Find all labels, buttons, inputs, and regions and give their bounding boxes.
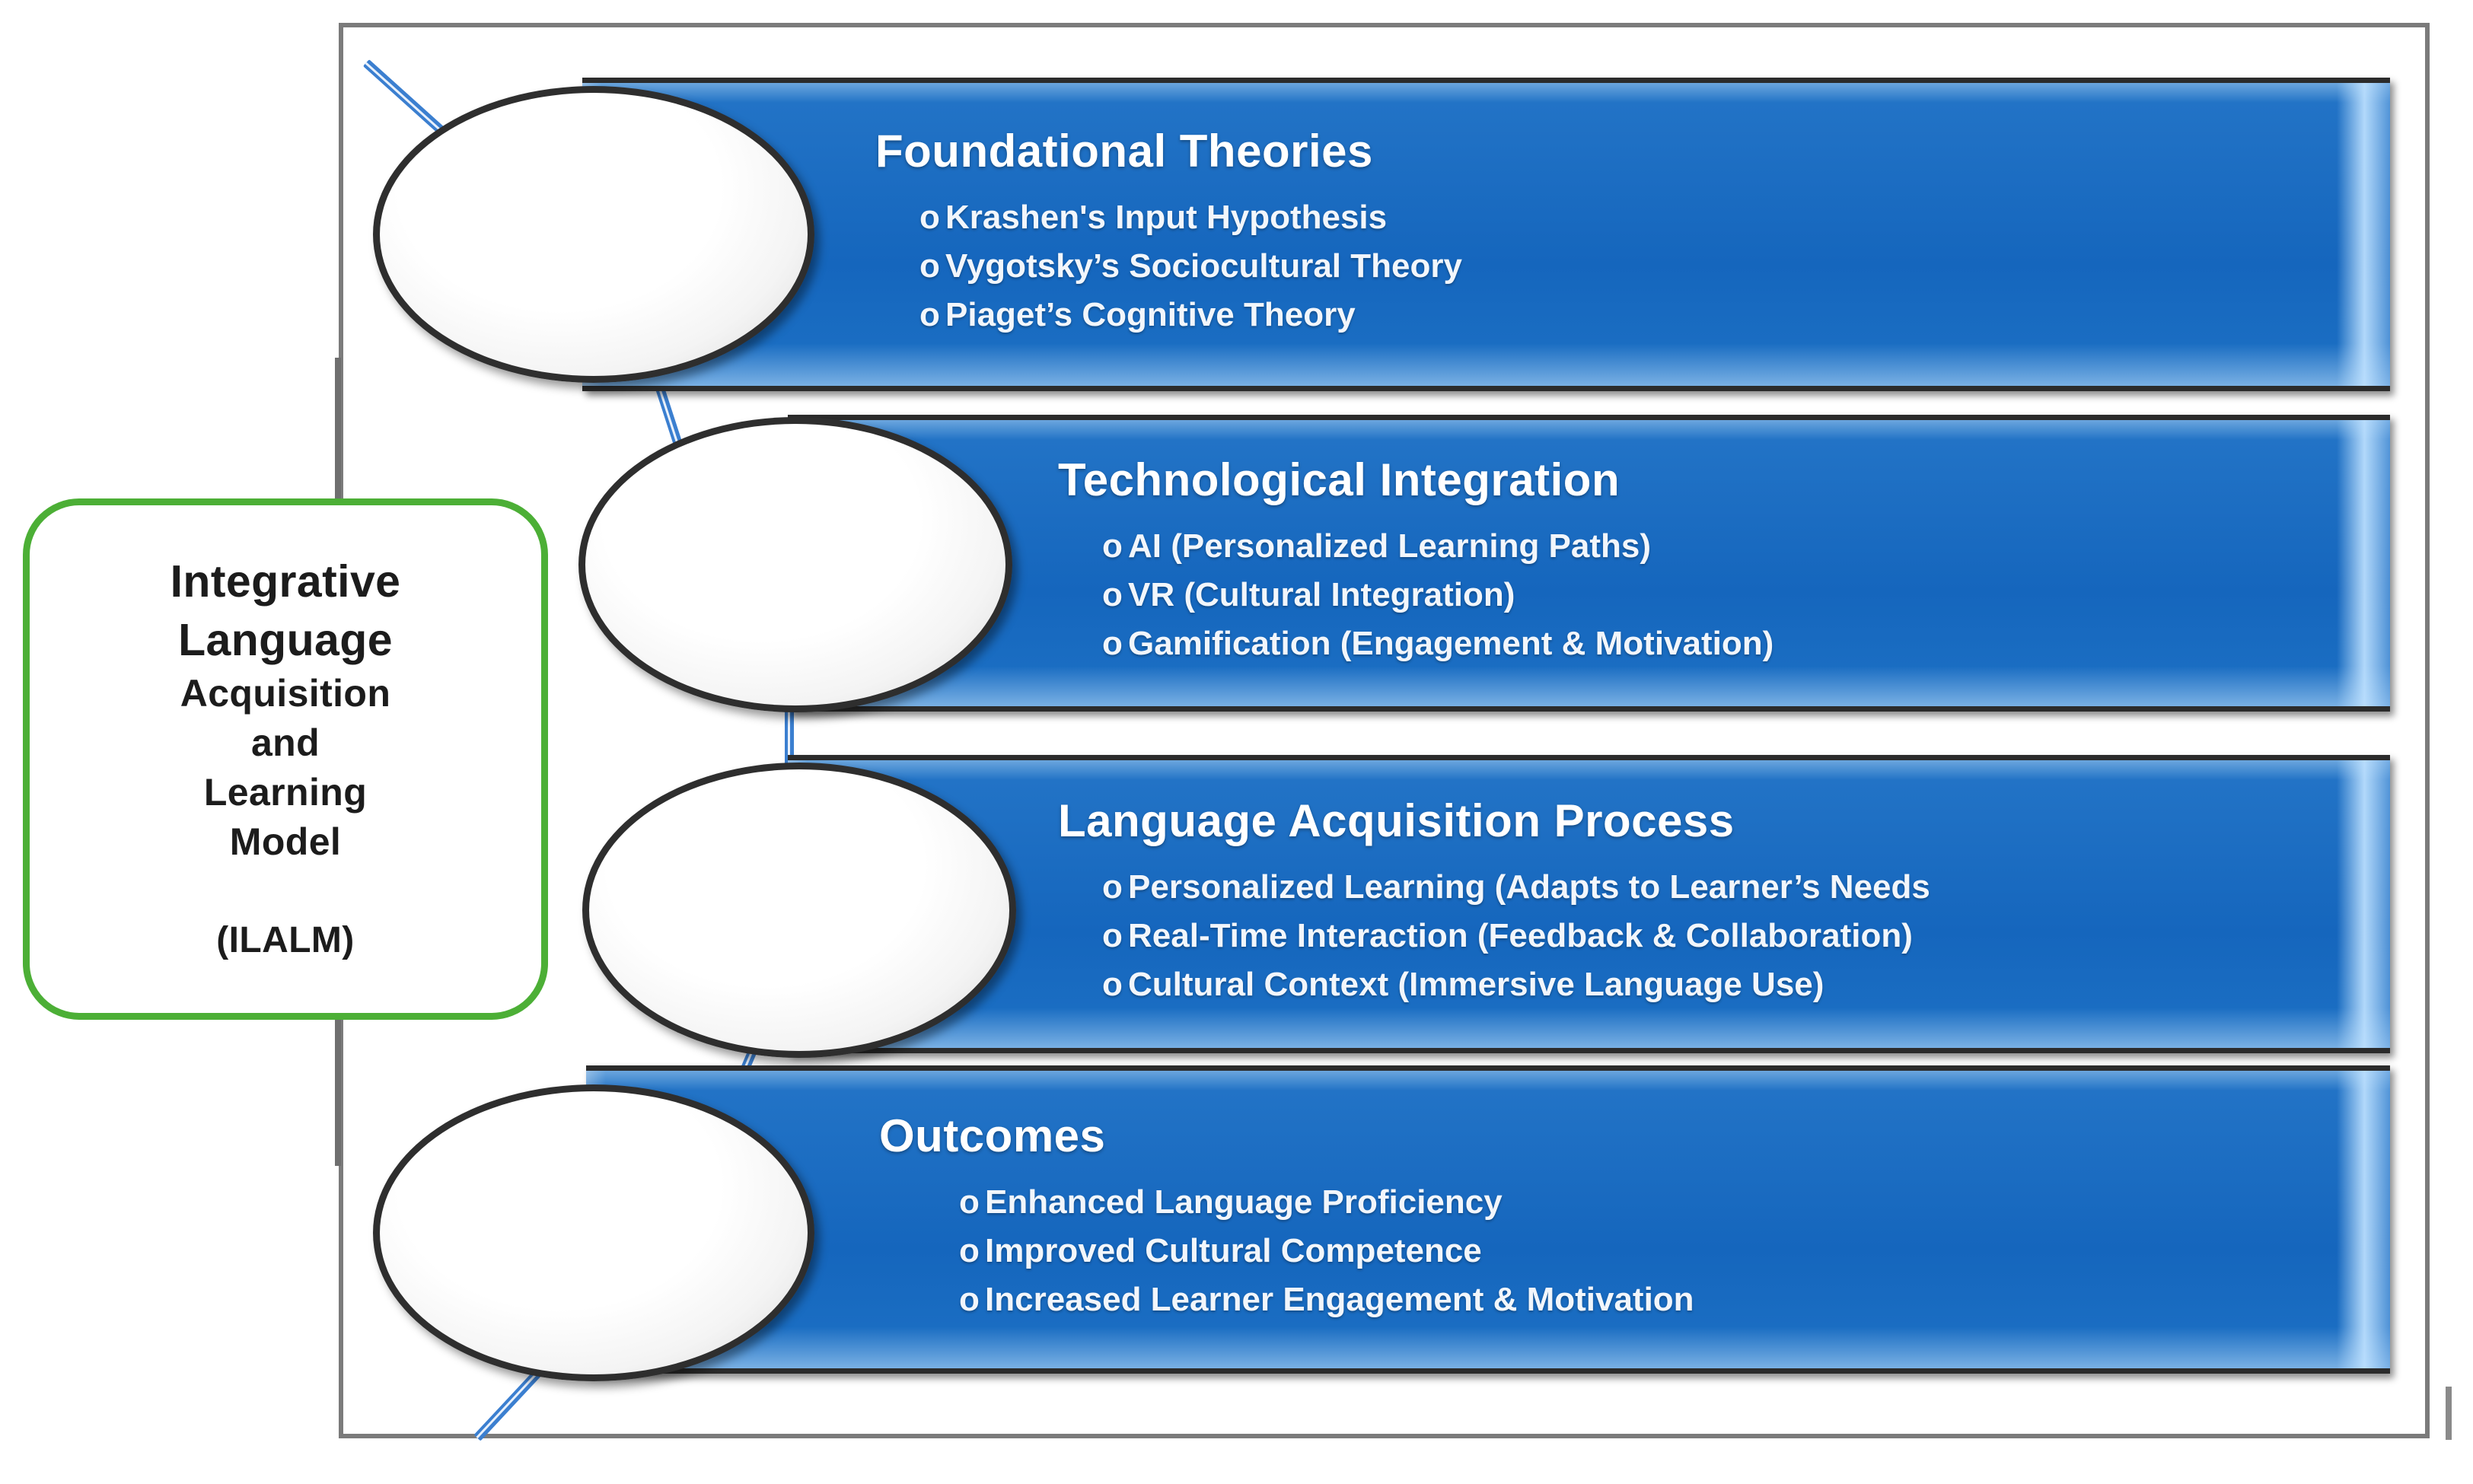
- core-line-5: Learning: [204, 768, 367, 817]
- list-item: oCultural Context (Immersive Language Us…: [1102, 966, 2329, 1004]
- core-connector-stem-bottom: [335, 1014, 341, 1166]
- stage-node-ellipse-technological-integration[interactable]: [578, 417, 1012, 712]
- list-item-label: Enhanced Language Proficiency: [985, 1183, 1503, 1221]
- core-line-6: Model: [230, 817, 341, 867]
- list-item: oVygotsky’s Sociocultural Theory: [919, 247, 2299, 285]
- banner-bevel-right-icon: [2337, 83, 2390, 386]
- bullet-marker-icon: o: [1102, 917, 1128, 955]
- stage-node-ellipse-foundational-theories[interactable]: [373, 86, 814, 383]
- frame-edge-tick: [2446, 1387, 2452, 1440]
- list-item-label: Real-Time Interaction (Feedback & Collab…: [1128, 917, 1913, 954]
- list-item: oPersonalized Learning (Adapts to Learne…: [1102, 868, 2329, 906]
- bullet-marker-icon: o: [959, 1281, 985, 1319]
- list-item: oEnhanced Language Proficiency: [959, 1183, 2299, 1221]
- list-item: oAI (Personalized Learning Paths): [1102, 527, 2299, 565]
- bullet-marker-icon: o: [959, 1183, 985, 1221]
- list-item-label: Improved Cultural Competence: [985, 1232, 1482, 1269]
- bullet-marker-icon: o: [919, 199, 945, 237]
- stage-banner-foundational-theories[interactable]: Foundational Theories oKrashen's Input H…: [582, 78, 2390, 391]
- banner-bevel-right-icon: [2337, 420, 2390, 706]
- stage-title-technological-integration: Technological Integration: [1058, 454, 2299, 506]
- core-abbreviation: (ILALM): [216, 917, 354, 964]
- stage-banner-language-acquisition-process[interactable]: Language Acquisition Process oPersonaliz…: [788, 755, 2390, 1053]
- banner-bevel-right-icon: [2337, 760, 2390, 1048]
- stage-bullet-list-foundational-theories: oKrashen's Input Hypothesis oVygotsky’s …: [875, 188, 2299, 345]
- core-line-3: Acquisition: [180, 669, 391, 718]
- list-item: oIncreased Learner Engagement & Motivati…: [959, 1281, 2299, 1319]
- core-model-box[interactable]: Integrative Language Acquisition and Lea…: [23, 498, 548, 1020]
- stage-bullet-list-language-acquisition-process: oPersonalized Learning (Adapts to Learne…: [1058, 858, 2329, 1014]
- bullet-marker-icon: o: [919, 296, 945, 334]
- stage-node-ellipse-outcomes[interactable]: [373, 1084, 814, 1381]
- core-line-1: Integrative: [170, 553, 401, 611]
- stage-banner-technological-integration[interactable]: Technological Integration oAI (Personali…: [788, 415, 2390, 712]
- bullet-marker-icon: o: [1102, 966, 1128, 1004]
- list-item: oReal-Time Interaction (Feedback & Colla…: [1102, 917, 2329, 955]
- core-line-2: Language: [178, 611, 393, 670]
- stage-bullet-list-technological-integration: oAI (Personalized Learning Paths) oVR (C…: [1058, 517, 2299, 674]
- core-line-4: and: [251, 718, 320, 768]
- stage-bullet-list-outcomes: oEnhanced Language Proficiency oImproved…: [879, 1173, 2299, 1330]
- bullet-marker-icon: o: [1102, 527, 1128, 565]
- list-item-label: Personalized Learning (Adapts to Learner…: [1128, 868, 1930, 906]
- stage-title-language-acquisition-process: Language Acquisition Process: [1058, 795, 2329, 847]
- list-item: oGamification (Engagement & Motivation): [1102, 625, 2299, 663]
- list-item: oKrashen's Input Hypothesis: [919, 199, 2299, 237]
- stage-banner-outcomes[interactable]: Outcomes oEnhanced Language Proficiency …: [586, 1065, 2390, 1374]
- stage-title-foundational-theories: Foundational Theories: [875, 125, 2299, 177]
- bullet-marker-icon: o: [1102, 868, 1128, 906]
- list-item: oImproved Cultural Competence: [959, 1232, 2299, 1270]
- stage-title-outcomes: Outcomes: [879, 1110, 2299, 1162]
- list-item: oVR (Cultural Integration): [1102, 576, 2299, 614]
- stage-node-ellipse-language-acquisition-process[interactable]: [582, 763, 1016, 1058]
- list-item-label: Vygotsky’s Sociocultural Theory: [945, 247, 1462, 285]
- list-item-label: Gamification (Engagement & Motivation): [1128, 625, 1773, 662]
- list-item-label: Increased Learner Engagement & Motivatio…: [985, 1281, 1694, 1318]
- bullet-marker-icon: o: [959, 1232, 985, 1270]
- bullet-marker-icon: o: [919, 247, 945, 285]
- list-item-label: Krashen's Input Hypothesis: [945, 199, 1387, 236]
- bullet-marker-icon: o: [1102, 576, 1128, 614]
- list-item: oPiaget’s Cognitive Theory: [919, 296, 2299, 334]
- diagram-canvas: Integrative Language Acquisition and Lea…: [0, 0, 2473, 1484]
- list-item-label: Piaget’s Cognitive Theory: [945, 296, 1356, 333]
- banner-bevel-right-icon: [2337, 1071, 2390, 1368]
- bullet-marker-icon: o: [1102, 625, 1128, 663]
- list-item-label: AI (Personalized Learning Paths): [1128, 527, 1651, 565]
- list-item-label: Cultural Context (Immersive Language Use…: [1128, 966, 1824, 1003]
- core-connector-stem-top: [335, 358, 341, 502]
- list-item-label: VR (Cultural Integration): [1128, 576, 1515, 613]
